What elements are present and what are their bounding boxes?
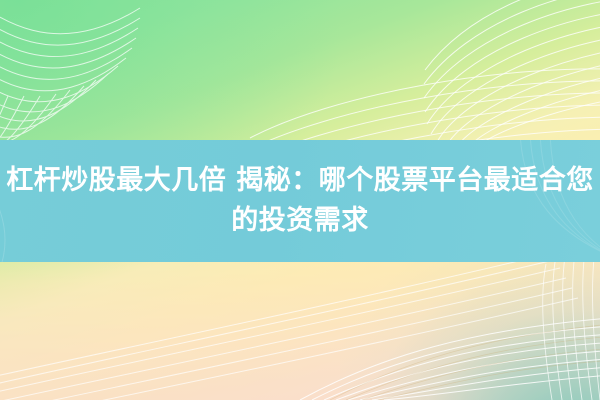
headline-line-2: 的投资需求 — [231, 201, 369, 241]
headline-line-1: 杠杆炒股最大几倍 揭秘：哪个股票平台最适合您 — [6, 161, 593, 201]
headline-band: 杠杆炒股最大几倍 揭秘：哪个股票平台最适合您 的投资需求 — [0, 140, 600, 262]
banner-image: 杠杆炒股最大几倍 揭秘：哪个股票平台最适合您 的投资需求 — [0, 0, 600, 400]
bottom-right-teal-glow — [340, 240, 600, 400]
headline-text-block: 杠杆炒股最大几倍 揭秘：哪个股票平台最适合您 的投资需求 — [0, 140, 600, 262]
